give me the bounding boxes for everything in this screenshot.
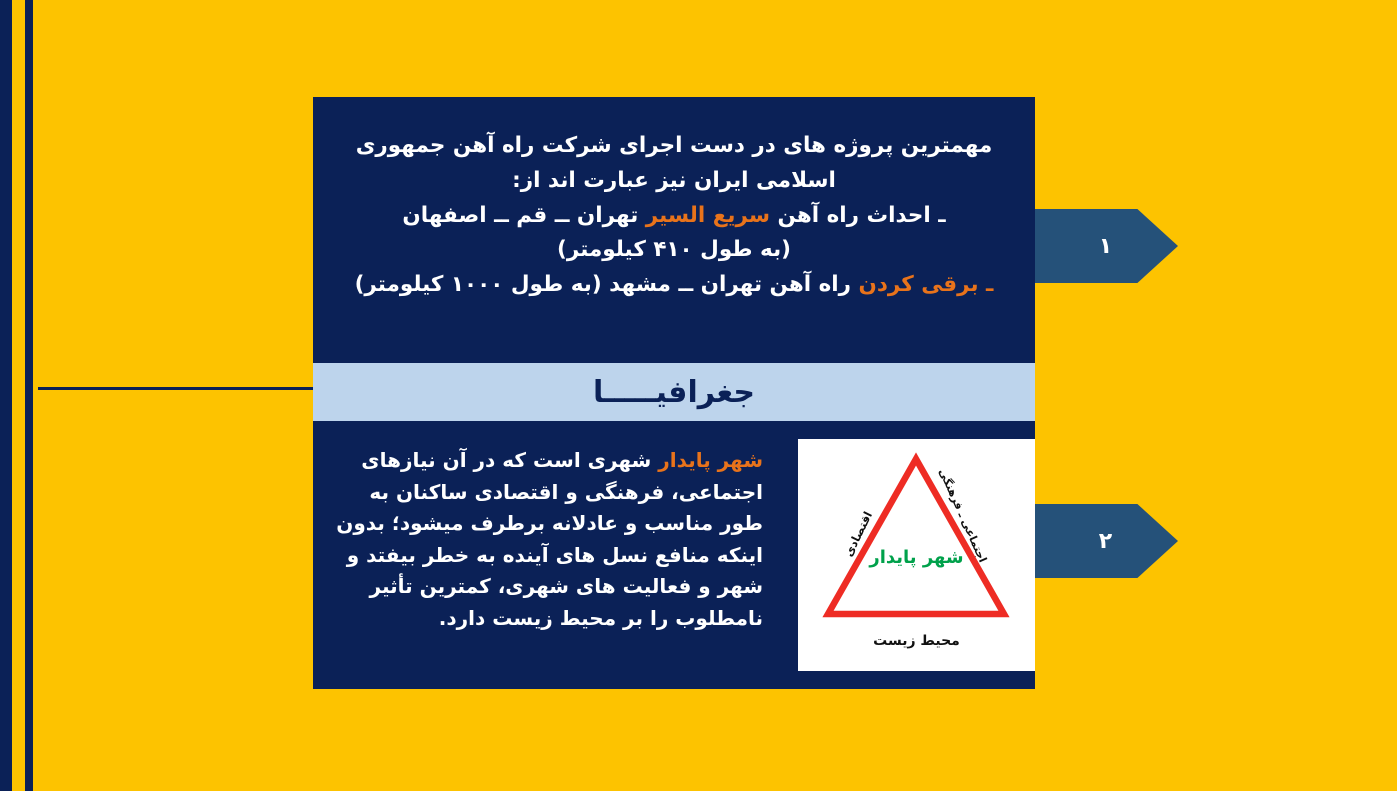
project-item-1-prefix: ـ احداث راه آهن [770,203,946,228]
triangle-label-environment: محیط زیست [798,633,1035,649]
subject-banner-title: جغرافیـــــا [593,375,755,410]
project-item-1-suffix: تهران ــ قم ــ اصفهان [402,203,645,228]
project-item-1-length: (به طول ۴۱۰ کیلومتر) [353,233,995,268]
sustainable-city-term: شهر پایدار [658,448,763,472]
sustainable-city-section: شهر پایدار شهری است که در آن نیازهای اجت… [313,421,1035,689]
subject-banner: جغرافیـــــا [313,363,1035,421]
railway-projects-section: مهمترین پروژه های در دست اجرای شرکت راه … [313,97,1035,363]
sustainable-city-definition-text: شهری است که در آن نیازهای اجتماعی، فرهنگ… [336,448,763,630]
triangle-label-sustainable-city: شهر پایدار [798,547,1035,568]
project-item-2-suffix: راه آهن تهران ــ مشهد (به طول ۱۰۰۰ کیلوم… [355,272,859,297]
intro-line-1: مهمترین پروژه های در دست اجرای شرکت راه … [353,129,995,164]
project-item-2-highlight: ـ برقی کردن [859,272,994,297]
project-item-1-highlight: سریع السیر [646,203,770,228]
step-badge-1[interactable]: ۱ [1033,209,1178,283]
step-badge-2[interactable]: ۲ [1033,504,1178,578]
project-item-2: ـ برقی کردن راه آهن تهران ــ مشهد (به طو… [353,268,995,303]
intro-line-2: اسلامی ایران نیز عبارت اند از: [353,164,995,199]
horizontal-divider-line [38,387,314,390]
step-badge-1-label: ۱ [1099,234,1112,259]
step-badge-2-label: ۲ [1099,529,1112,554]
decorative-stripe-gold-inner [33,0,40,791]
decorative-stripe-navy-outer [0,0,12,791]
content-panel: مهمترین پروژه های در دست اجرای شرکت راه … [313,97,1035,689]
slide-canvas: ۱ ۲ مهمترین پروژه های در دست اجرای شرکت … [0,0,1397,791]
sustainable-city-definition: شهر پایدار شهری است که در آن نیازهای اجت… [313,439,783,635]
railway-projects-text: مهمترین پروژه های در دست اجرای شرکت راه … [353,129,995,303]
project-item-1: ـ احداث راه آهن سریع السیر تهران ــ قم ـ… [353,199,995,234]
decorative-stripe-gold-outer [12,0,25,791]
decorative-stripe-navy-inner [25,0,33,791]
sustainable-city-triangle-figure: اقتصادی اجتماعی ـ فرهنگی شهر پایدار محیط… [798,439,1035,671]
